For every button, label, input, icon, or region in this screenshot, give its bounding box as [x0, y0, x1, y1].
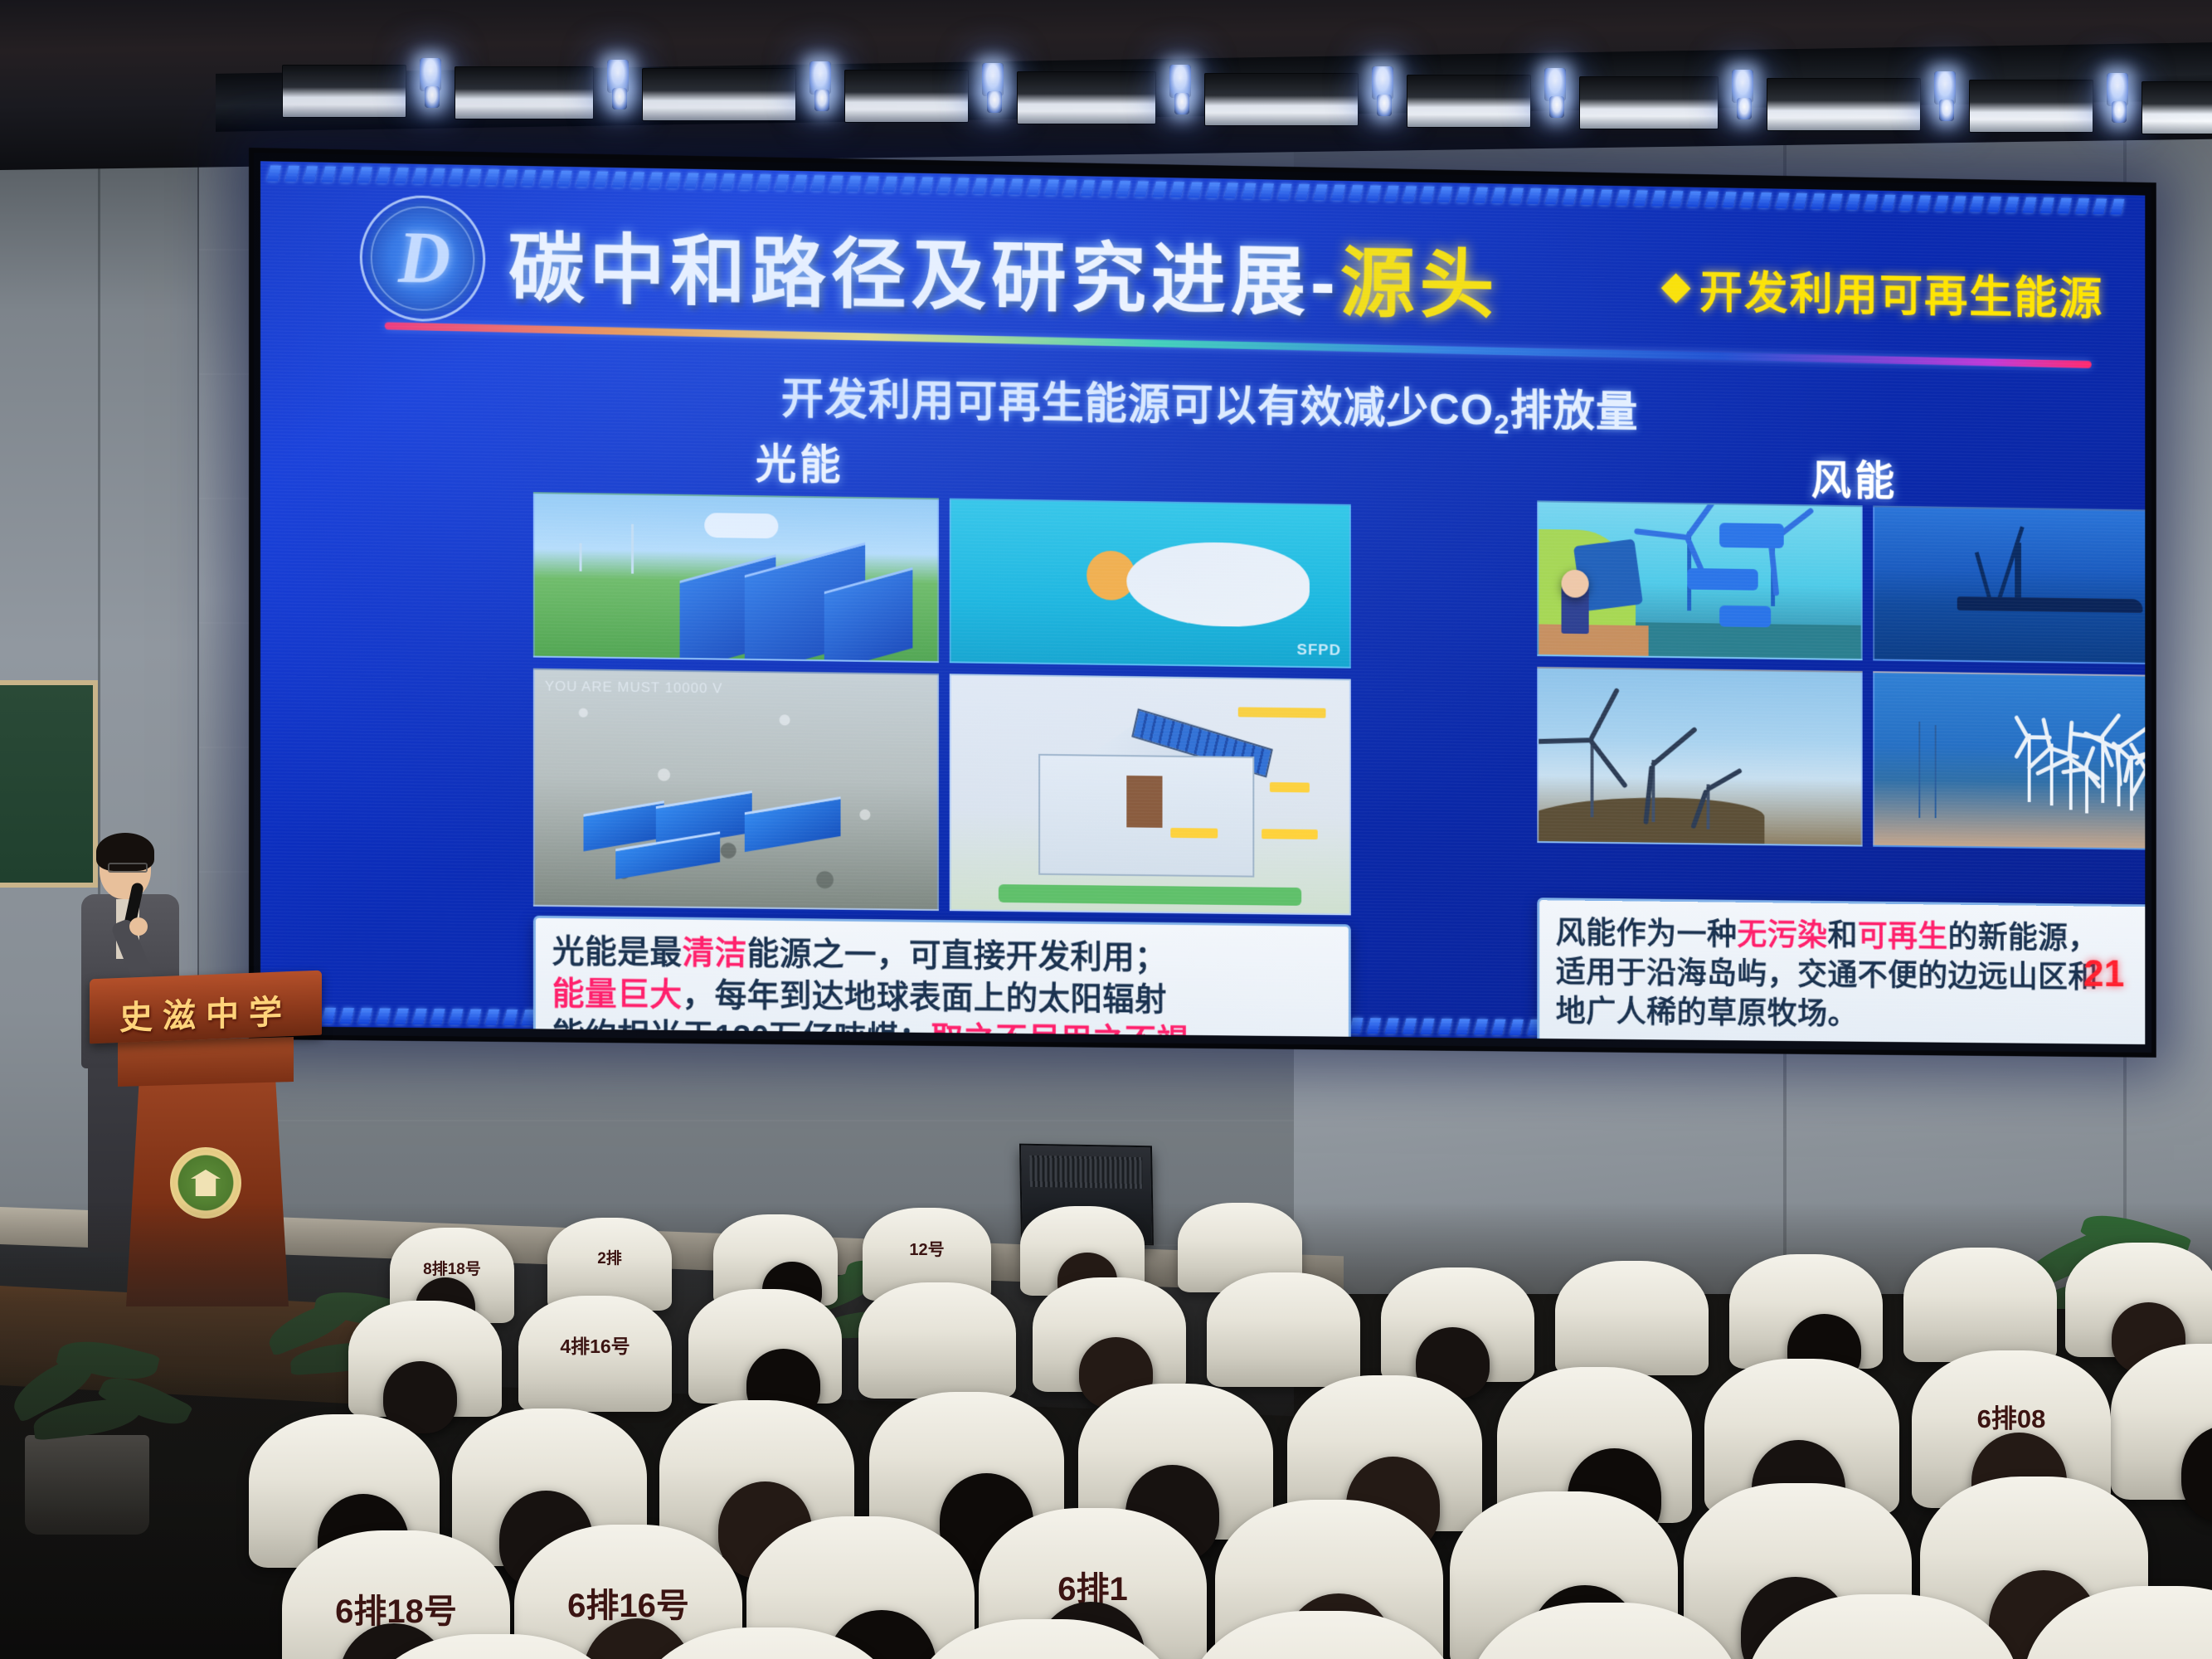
dot-segment: [394, 1008, 408, 1024]
seat-number-label: 12号: [863, 1236, 991, 1260]
dot-segment: [285, 165, 299, 181]
dot-segment: [756, 174, 771, 190]
dot-segment: [793, 174, 807, 190]
dot-segment: [2093, 198, 2107, 214]
dot-segment: [649, 172, 663, 187]
stage-spotlight-icon: [1939, 100, 1954, 121]
dot-segment: [1403, 1018, 1417, 1034]
dot-segment: [1331, 184, 1345, 200]
dot-segment: [503, 1010, 518, 1025]
dot-segment: [612, 172, 626, 187]
dot-segment: [1349, 185, 1364, 201]
wind-farm-turbines: [1874, 673, 2146, 677]
dot-segment: [377, 167, 391, 182]
dot-segment: [1099, 180, 1113, 196]
dot-segment: [630, 172, 644, 187]
dot-segment: [1687, 191, 1701, 207]
ceiling-light-fixture: [282, 65, 406, 118]
slide-title: 碳中和路径及研究进展-源头: [508, 207, 1499, 334]
caption-text: 的新能源，: [1948, 920, 2098, 955]
sun-behind-cloud-illustration: SFPD: [949, 499, 1351, 669]
dot-segment: [1403, 186, 1417, 202]
dot-segment: [1349, 1018, 1364, 1034]
caption-line-3: 地广人稀的草原牧场。: [1556, 992, 2146, 1038]
speaker-grille: [1029, 1155, 1143, 1189]
ceiling-light-fixture: [1204, 73, 1359, 126]
dot-segment: [2040, 197, 2054, 213]
ceiling-light-fixture: [642, 68, 796, 121]
turbine-blade: [2083, 746, 2096, 770]
snow-texture: [535, 670, 937, 909]
dot-segment: [937, 178, 951, 193]
slide-title-highlight: 源头: [1340, 241, 1499, 328]
wind-turbine-mast: [632, 524, 634, 574]
dot-segment: [1385, 1018, 1399, 1034]
dot-segment: [955, 178, 969, 193]
diagram-callout-tag: [1270, 782, 1310, 792]
ceiling-light-fixture: [1407, 75, 1531, 128]
turbine-blade: [1537, 738, 1590, 745]
wind-turbine-mast: [579, 543, 581, 572]
caption-line-2: 能量巨大，每年到达地球表面上的太阳辐射: [552, 973, 1333, 1023]
ceiling-light-fixture: [455, 66, 594, 119]
dot-segment: [1206, 182, 1220, 198]
projected-slide: D 碳中和路径及研究进展-源头 开发利用可再生能源 开发利用可再生能源可以有效减…: [260, 161, 2145, 1044]
vessel-hull: [1957, 596, 2142, 613]
cartoon-character-head: [1561, 570, 1588, 598]
dot-segment: [304, 166, 318, 182]
stage-spotlight-icon: [1737, 98, 1752, 119]
dot-segment: [485, 169, 499, 185]
dot-segment: [412, 168, 426, 183]
dot-segment: [1474, 187, 1488, 202]
dot-segment: [1846, 194, 1860, 210]
turbine-blade: [2100, 713, 2122, 739]
dot-segment: [1899, 195, 1913, 211]
lawn: [999, 884, 1301, 907]
school-name-plaque: 史滋中学: [98, 984, 314, 1040]
dot-segment: [340, 1008, 354, 1024]
dot-segment: [558, 170, 572, 186]
dot-segment: [1776, 192, 1790, 208]
turbine-blade: [2041, 717, 2052, 748]
dot-segment: [1970, 196, 1984, 212]
cloud-icon: [1126, 541, 1310, 627]
dot-segment: [1242, 182, 1256, 198]
caption-line-2: 适用于沿海岛屿，交通不便的边远山区和: [1556, 953, 2146, 999]
callout-card: [1687, 568, 1757, 591]
dot-segment: [1952, 196, 1966, 212]
dot-segment: [1598, 189, 1612, 205]
audience-seat: 4排16号: [518, 1296, 672, 1412]
audience-seat: [858, 1282, 1016, 1399]
dot-segment: [684, 173, 698, 188]
dot-segment: [267, 165, 281, 181]
ceiling-light-fixture: [844, 70, 969, 123]
dot-segment: [973, 178, 987, 193]
stage-spotlight-icon: [425, 86, 440, 108]
dot-segment: [1634, 190, 1648, 206]
stage-spotlight-icon: [1377, 95, 1392, 116]
diagram-callout-tag: [1170, 828, 1218, 839]
cloud-shape: [704, 513, 778, 538]
dot-segment: [1314, 184, 1328, 200]
dot-segment: [358, 167, 372, 182]
caption-line-1: 光能是最清洁能源之一，可直接开发利用；: [552, 932, 1333, 981]
turbine-blade: [1588, 688, 1620, 742]
dot-segment: [322, 166, 336, 182]
slide-title-right: 开发利用可再生能源: [1665, 255, 2103, 328]
dot-segment: [721, 173, 735, 189]
dot-segment: [1135, 181, 1149, 197]
turbine-blade: [1705, 768, 1743, 792]
university-logo-icon: D: [360, 194, 485, 322]
audience-seat: [1903, 1248, 2057, 1362]
dot-segment: [2058, 197, 2072, 213]
dot-segment: [1189, 182, 1203, 197]
slide-title-main: 碳中和路径及研究进展-: [508, 227, 1340, 326]
solar-panels-field-photo: [533, 492, 939, 663]
dot-segment: [1510, 187, 1524, 203]
offshore-installation-vessel-photo: [1873, 505, 2146, 664]
ceiling-light-fixture: [1017, 71, 1156, 124]
dot-segment: [467, 168, 481, 184]
dot-segment: [1385, 185, 1399, 201]
dot-segment: [1474, 1019, 1488, 1034]
dot-segment: [1224, 182, 1238, 198]
ceiling-light-fixture: [1767, 78, 1921, 131]
audience-seat: [1555, 1261, 1709, 1375]
dot-segment: [1757, 192, 1772, 208]
projection-screen-frame: D 碳中和路径及研究进展-源头 开发利用可再生能源 开发利用可再生能源可以有效减…: [249, 148, 2156, 1058]
hillside: [1537, 796, 1764, 844]
turbine-blade: [1685, 500, 1720, 539]
stage-spotlight-icon: [2112, 101, 2127, 123]
dot-segment: [1829, 193, 1843, 209]
ceiling-light-fixture: [1579, 76, 1719, 129]
solar-image-grid: SFPD YOU ARE MUST 10000 V: [533, 492, 1351, 915]
dot-segment: [540, 170, 554, 186]
dot-segment: [1278, 183, 1292, 199]
dot-segment: [702, 173, 717, 189]
subtitle-part-a: 开发利用可再生能源可以有效减少CO: [781, 375, 1494, 434]
caption-text: 风能作为一种: [1556, 916, 1738, 951]
caption-text: ，每年到达地球表面上的太阳辐射: [683, 977, 1167, 1018]
house-door: [1126, 776, 1162, 827]
dot-segment: [1421, 1018, 1435, 1034]
beach: [1539, 624, 1648, 655]
dot-segment: [322, 1007, 336, 1023]
seat-number-label: 8排18号: [390, 1257, 514, 1279]
dot-segment: [1581, 189, 1595, 205]
dot-segment: [739, 173, 753, 189]
dot-segment: [1081, 180, 1095, 196]
turbine-blade: [1588, 739, 1628, 789]
dot-segment: [1864, 194, 1878, 210]
diagram-callout-tag: [1238, 707, 1325, 718]
lecture-hall-photo: D 碳中和路径及研究进展-源头 开发利用可再生能源 开发利用可再生能源可以有效减…: [0, 0, 2212, 1659]
slide-number: 21: [2083, 951, 2124, 995]
subtitle-part-b: 排放量: [1510, 387, 1639, 437]
stage-spotlight-icon: [814, 90, 829, 111]
turbine-blade: [1650, 727, 1697, 768]
slide-subtitle: 开发利用可再生能源可以有效减少CO2排放量: [260, 355, 2145, 451]
lectern-neck: [118, 1037, 294, 1087]
dot-segment: [1045, 179, 1059, 195]
dot-segment: [449, 1009, 463, 1024]
dot-segment: [449, 168, 463, 184]
dot-segment: [594, 171, 608, 187]
dot-segment: [1651, 190, 1665, 206]
eyeglasses-icon: [108, 863, 148, 873]
dot-segment: [667, 173, 681, 188]
stage-spotlight-icon: [987, 91, 1002, 113]
caption-text: 光能是最: [552, 934, 683, 971]
ceiling-light-fixture: [2142, 81, 2212, 134]
column-label-solar: 光能: [756, 431, 844, 492]
diagram-callout-tag: [1262, 829, 1317, 839]
dot-segment: [1793, 192, 1807, 208]
seat-number-label: 6排08: [1912, 1398, 2111, 1435]
subtitle-subscript: 2: [1494, 409, 1510, 440]
dot-segment: [522, 170, 536, 186]
audience-seat: [1207, 1272, 1360, 1387]
turbine-blade: [2061, 766, 2085, 774]
caption-text: 能约相当于130万亿吨煤；: [552, 1018, 931, 1044]
dot-segment: [1367, 1018, 1381, 1034]
dot-segment: [919, 177, 933, 192]
transmission-pylon: [1935, 725, 1937, 818]
wind-turbine-mast: [2050, 744, 2054, 806]
seat-number-label: 2排: [547, 1246, 672, 1268]
dot-segment: [1153, 181, 1167, 197]
slide-title-right-text: 开发利用可再生能源: [1699, 256, 2103, 328]
dot-segment: [358, 1008, 372, 1024]
dot-segment: [865, 176, 879, 192]
turbine-blade: [2014, 715, 2030, 738]
dot-segment: [1438, 187, 1452, 202]
dot-segment: [1987, 197, 2001, 212]
dot-segment: [1009, 178, 1023, 194]
dot-segment: [1456, 187, 1471, 202]
diamond-bullet-icon: [1661, 273, 1691, 303]
dot-segment: [1882, 194, 1896, 210]
dot-segment: [991, 178, 1005, 194]
dot-segment: [340, 167, 354, 182]
dot-segment: [775, 174, 789, 190]
dot-segment: [883, 176, 897, 192]
seat-number-label: 4排16号: [518, 1331, 672, 1359]
image-watermark: SFPD: [1297, 641, 1342, 659]
wind-caption-box: 风能作为一种无污染和可再生的新能源， 适用于沿海岛屿，交通不便的边远山区和 地广…: [1537, 898, 2145, 1044]
ceiling-light-fixture: [1969, 80, 2093, 133]
dot-segment: [485, 1009, 499, 1024]
stage-spotlight-icon: [612, 88, 627, 109]
dot-segment: [1027, 179, 1041, 195]
dot-segment: [2023, 197, 2037, 212]
dot-segment: [1456, 1019, 1471, 1034]
caption-highlight: 取之不尽用之不竭: [931, 1021, 1189, 1044]
dot-segment: [1116, 181, 1130, 197]
dot-segment: [1527, 188, 1541, 204]
dot-segment: [1723, 192, 1737, 207]
caption-highlight: 无污染: [1737, 918, 1827, 953]
stage-spotlight-icon: [1549, 96, 1564, 118]
callout-card: [1719, 523, 1784, 548]
caption-text: 。: [1189, 1024, 1221, 1044]
dot-segment: [829, 175, 843, 191]
dot-segment: [1510, 1019, 1524, 1034]
column-label-wind: 风能: [1811, 447, 1898, 507]
dot-segment: [1616, 190, 1631, 206]
caption-highlight: 清洁: [683, 936, 747, 972]
dot-segment: [1260, 183, 1274, 199]
rooftop-solar-house-diagram: [949, 674, 1351, 915]
offshore-wind-cartoon-diagram: [1537, 500, 1862, 660]
caption-text: 和: [1828, 919, 1858, 953]
dot-segment: [2005, 197, 2019, 212]
dot-segment: [1492, 1019, 1506, 1034]
transmission-pylon: [1919, 722, 1921, 818]
dot-segment: [412, 1008, 426, 1024]
dot-segment: [1917, 195, 1931, 211]
dot-segment: [2111, 198, 2125, 214]
dot-segment: [576, 171, 590, 187]
solar-caption-box: 光能是最清洁能源之一，可直接开发利用； 能量巨大，每年到达地球表面上的太阳辐射 …: [533, 916, 1351, 1044]
image-watermark: YOU ARE MUST 10000 V: [545, 679, 722, 698]
dot-segment: [1170, 182, 1184, 197]
dot-segment: [1563, 188, 1577, 204]
hilltop-wind-turbines-photo: [1537, 667, 1862, 847]
audience-seating: 8排18号2排12号4排16号6排086排18号6排16号6排18排16号8排1…: [0, 1203, 2212, 1659]
dot-segment: [1367, 185, 1381, 201]
dot-segment: [901, 177, 915, 192]
caption-text: 能源之一，可直接开发利用；: [747, 936, 1167, 975]
dot-segment: [1811, 193, 1825, 209]
dot-segment: [1704, 191, 1719, 207]
dot-segment: [1545, 188, 1559, 204]
dot-segment: [1296, 184, 1310, 200]
dot-segment: [2075, 198, 2089, 214]
dot-segment: [430, 168, 445, 184]
dot-segment: [1934, 196, 1948, 212]
coastal-wind-farm-photo: [1873, 671, 2146, 850]
dot-segment: [1062, 179, 1077, 195]
callout-card: [1719, 606, 1771, 628]
dot-segment: [394, 168, 408, 183]
logo-ring: [371, 206, 475, 312]
dot-segment: [811, 175, 825, 191]
turbine-blade: [1634, 528, 1688, 541]
dot-segment: [1740, 192, 1754, 207]
caption-highlight: 可再生: [1858, 919, 1948, 953]
dot-segment: [1421, 186, 1435, 202]
snow-covered-solar-array-photo: YOU ARE MUST 10000 V: [533, 669, 939, 911]
dot-segment: [430, 1009, 445, 1024]
dot-segment: [1670, 191, 1684, 207]
dot-segment: [503, 169, 518, 185]
presenter-hand: [129, 917, 148, 936]
dot-segment: [377, 1008, 391, 1024]
stage-spotlight-icon: [1174, 93, 1189, 114]
caption-line-1: 风能作为一种无污染和可再生的新能源，: [1556, 913, 2146, 959]
turbine-blade: [1767, 542, 1778, 596]
dot-segment: [847, 176, 861, 192]
dot-segment: [467, 1009, 481, 1024]
wind-image-grid: [1537, 500, 2145, 850]
dot-segment: [1492, 187, 1506, 203]
dot-segment: [1438, 1019, 1452, 1034]
caption-highlight: 能量巨大: [552, 975, 683, 1012]
